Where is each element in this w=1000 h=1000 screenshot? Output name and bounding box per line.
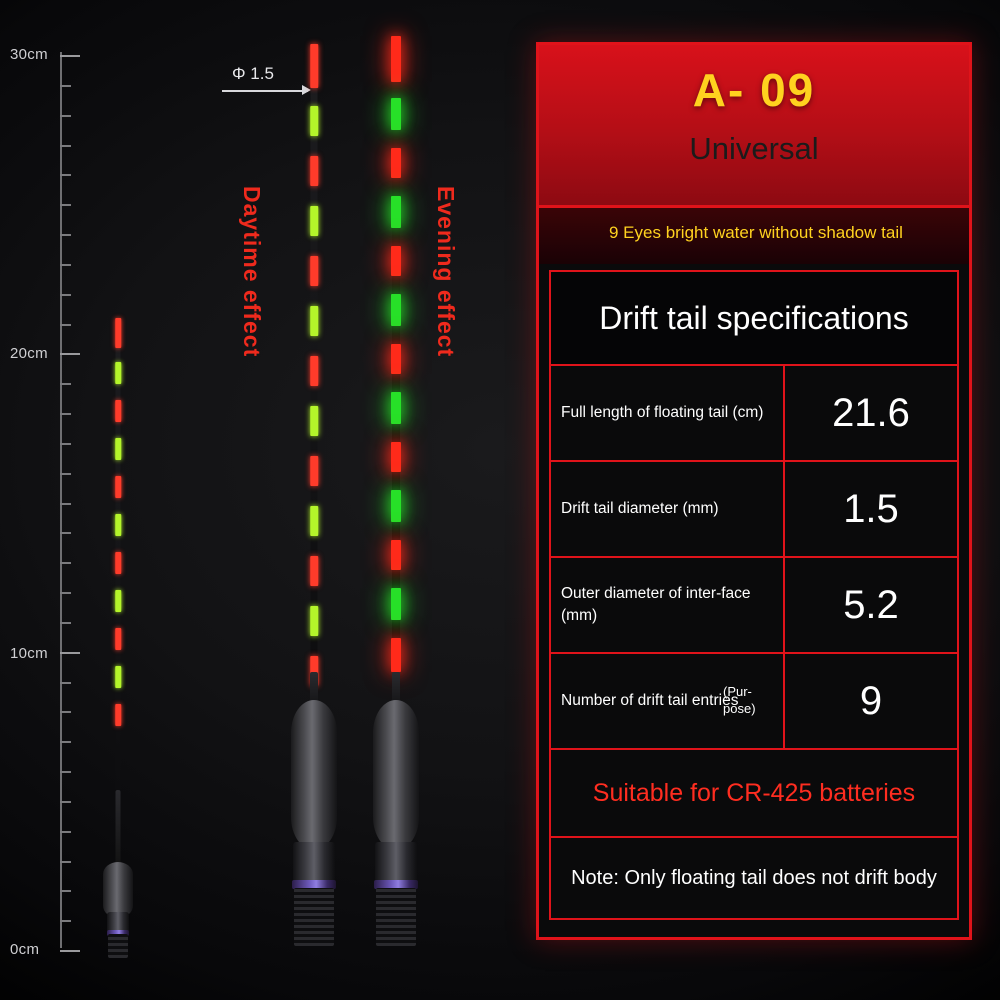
callout-line [222, 90, 308, 92]
ruler-tick-minor [60, 741, 71, 743]
ruler-spine [60, 52, 62, 948]
ruler-tick-minor [60, 562, 71, 564]
float-eye-segment-glow [391, 442, 401, 472]
float-body-bulb [291, 700, 337, 850]
ruler-tick-minor [60, 85, 71, 87]
table-row: Number of drift tail entries (Pur-pose) … [551, 654, 957, 750]
ruler-tick-minor [60, 443, 71, 445]
float-eye-segment [310, 256, 318, 286]
float-eye-segment-glow [391, 196, 401, 228]
float-eye-segment-glow [391, 36, 401, 82]
float-eye-segment-glow [391, 638, 401, 672]
float-eye-segment-glow [391, 392, 401, 424]
float-eye-segment [115, 590, 121, 612]
float-eye-segment [115, 438, 121, 460]
float-eye-segment [310, 44, 318, 88]
float-eye-segment [115, 400, 121, 422]
table-row: Full length of floating tail (cm) 21.6 [551, 366, 957, 462]
ruler-label: 0cm [10, 941, 39, 958]
ruler-tick-minor [60, 264, 71, 266]
table-row: Outer diameter of inter-face (mm) 5.2 [551, 558, 957, 654]
ruler-tick-minor [60, 145, 71, 147]
float-body-bulb [103, 862, 133, 918]
float-eye-segment [115, 704, 121, 726]
spec-label-purpose: (Pur-pose) [723, 684, 775, 718]
float-eye-segment [115, 552, 121, 574]
ruler-tick-minor [60, 831, 71, 833]
float-eye-segment [310, 406, 318, 436]
float-collar [293, 842, 335, 882]
ruler-tick-minor [60, 473, 71, 475]
float-eye-segment-glow [391, 490, 401, 522]
float-eye-segment [115, 666, 121, 688]
ruler-label: 10cm [10, 645, 48, 662]
ruler-tick-minor [60, 383, 71, 385]
ruler-tick-minor [60, 861, 71, 863]
float-eye-segment [115, 514, 121, 536]
ruler-tick-major [60, 353, 80, 355]
bottom-note: Note: Only floating tail does not drift … [551, 838, 957, 918]
ruler-tick-major [60, 55, 80, 57]
ruler-tick-minor [60, 890, 71, 892]
float-eye-segment [115, 318, 121, 348]
float-eye-segment [310, 206, 318, 236]
ruler-tick-minor [60, 920, 71, 922]
float-eye-segment-glow [391, 294, 401, 326]
float-threaded-base [294, 888, 334, 946]
panel-title: A- 09 [539, 63, 969, 117]
float-eye-segment-glow [391, 588, 401, 620]
diameter-callout: Φ 1.5 [222, 62, 342, 102]
product-spec-image: 30cm20cm10cm0cm Φ 1.5 Daytime effect Eve… [0, 0, 1000, 1000]
float-eye-segment [115, 476, 121, 498]
float-eye-segment-glow [391, 344, 401, 374]
float-eye-segment [310, 356, 318, 386]
ruler-tick-minor [60, 413, 71, 415]
float-eye-segment [310, 606, 318, 636]
spec-label: Number of drift tail entries (Pur-pose) [551, 654, 785, 748]
spec-value: 5.2 [785, 558, 957, 652]
table-row: Drift tail diameter (mm) 1.5 [551, 462, 957, 558]
ruler-tick-minor [60, 771, 71, 773]
ruler-tick-minor [60, 532, 71, 534]
float-eye-segment-glow [391, 148, 401, 178]
float-eye-segment [310, 556, 318, 586]
ruler-tick-minor [60, 711, 71, 713]
panel-subtitle: Universal [539, 131, 969, 167]
ruler-tick-major [60, 950, 80, 952]
ruler-label: 30cm [10, 46, 48, 63]
float-eye-segment [115, 628, 121, 650]
float-eye-segment [115, 362, 121, 384]
float-threaded-base [376, 888, 416, 946]
float-threaded-base [108, 934, 128, 958]
ruler-tick-minor [60, 115, 71, 117]
diameter-callout-label: Φ 1.5 [232, 64, 274, 84]
ruler-tick-minor [60, 503, 71, 505]
float-eye-segment-glow [391, 246, 401, 276]
float-eye-segment-glow [391, 540, 401, 570]
ruler-tick-minor [60, 682, 71, 684]
spec-value: 1.5 [785, 462, 957, 556]
float-eye-segment [310, 506, 318, 536]
ruler-tick-minor [60, 324, 71, 326]
ruler-tick-minor [60, 204, 71, 206]
ruler-tick-minor [60, 294, 71, 296]
spec-value: 9 [785, 654, 957, 748]
float-lower-stem [116, 790, 121, 870]
spec-value: 21.6 [785, 366, 957, 460]
float-collar [375, 842, 417, 882]
ruler-tick-minor [60, 592, 71, 594]
battery-note: Suitable for CR-425 batteries [551, 750, 957, 838]
ruler-tick-minor [60, 622, 71, 624]
float-evening-label: Evening effect [432, 186, 459, 357]
float-eye-segment [310, 306, 318, 336]
float-eye-segment [310, 156, 318, 186]
float-daytime-label: Daytime effect [238, 186, 265, 357]
spec-table-header: Drift tail specifications [551, 272, 957, 366]
ruler-tick-major [60, 652, 80, 654]
ruler-label: 20cm [10, 345, 48, 362]
float-eye-segment-glow [391, 98, 401, 130]
ruler-scale: 30cm20cm10cm0cm [30, 40, 100, 960]
spec-label: Drift tail diameter (mm) [551, 462, 785, 556]
panel-top-note: 9 Eyes bright water without shadow tail [539, 208, 969, 264]
panel-header: A- 09 Universal [539, 45, 969, 208]
float-body-bulb [373, 700, 419, 850]
float-eye-segment [310, 456, 318, 486]
spec-table: Drift tail specifications Full length of… [549, 270, 959, 920]
spec-label-text: Number of drift tail entries [561, 690, 738, 712]
float-eye-segment [310, 106, 318, 136]
spec-label: Outer diameter of inter-face (mm) [551, 558, 785, 652]
spec-label: Full length of floating tail (cm) [551, 366, 785, 460]
spec-panel: A- 09 Universal 9 Eyes bright water with… [536, 42, 972, 940]
ruler-tick-minor [60, 174, 71, 176]
ruler-tick-minor [60, 801, 71, 803]
ruler-tick-minor [60, 234, 71, 236]
